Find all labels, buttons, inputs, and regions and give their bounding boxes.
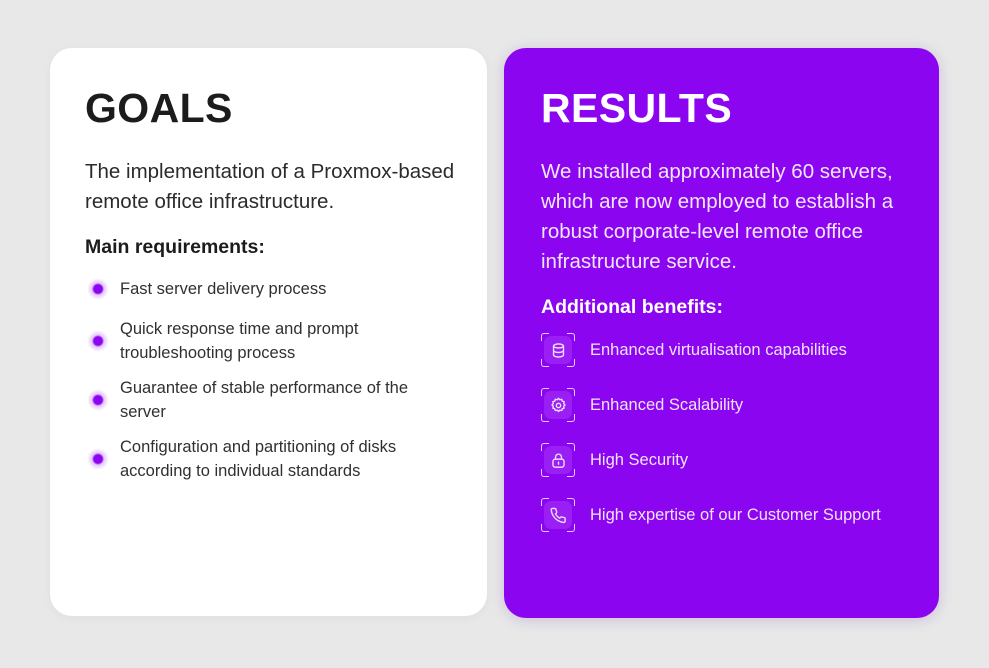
list-item-label: Fast server delivery process	[120, 277, 326, 301]
goals-body-text: The implementation of a Proxmox-based re…	[85, 157, 457, 217]
results-benefits-list: Enhanced virtualisation capabilities Enh…	[541, 333, 913, 532]
list-item-label: Enhanced Scalability	[590, 394, 743, 416]
results-title: RESULTS	[541, 88, 913, 129]
goals-title: GOALS	[85, 88, 457, 129]
results-card-content: RESULTS We installed approximately 60 se…	[541, 88, 913, 553]
bullet-dot-icon	[87, 389, 109, 411]
list-item: Enhanced virtualisation capabilities	[541, 333, 913, 367]
list-item: High expertise of our Customer Support	[541, 498, 913, 532]
goals-requirements-list: Fast server delivery process Quick respo…	[85, 272, 457, 483]
phone-icon	[541, 498, 575, 532]
bullet-dot-icon	[87, 330, 109, 352]
list-item: High Security	[541, 443, 913, 477]
list-item-label: High expertise of our Customer Support	[590, 504, 881, 526]
database-icon	[541, 333, 575, 367]
list-item-label: Configuration and partitioning of disks …	[120, 435, 457, 483]
results-subheading: Additional benefits:	[541, 296, 913, 319]
list-item: Guarantee of stable performance of the s…	[85, 376, 457, 424]
list-item: Configuration and partitioning of disks …	[85, 435, 457, 483]
list-item: Quick response time and prompt troublesh…	[85, 317, 457, 365]
list-item: Fast server delivery process	[85, 272, 457, 306]
list-item-label: Guarantee of stable performance of the s…	[120, 376, 457, 424]
gear-icon	[541, 388, 575, 422]
list-item-label: Enhanced virtualisation capabilities	[590, 339, 847, 361]
results-card: RESULTS We installed approximately 60 se…	[504, 48, 939, 618]
page-root: GOALS The implementation of a Proxmox-ba…	[0, 0, 989, 668]
list-item-label: High Security	[590, 449, 688, 471]
lock-icon	[541, 443, 575, 477]
list-item: Enhanced Scalability	[541, 388, 913, 422]
goals-card: GOALS The implementation of a Proxmox-ba…	[50, 48, 487, 616]
goals-subheading: Main requirements:	[85, 236, 457, 259]
list-item-label: Quick response time and prompt troublesh…	[120, 317, 457, 365]
goals-card-content: GOALS The implementation of a Proxmox-ba…	[85, 88, 457, 494]
results-body-text: We installed approximately 60 servers, w…	[541, 157, 913, 277]
bullet-dot-icon	[87, 278, 109, 300]
bullet-dot-icon	[87, 448, 109, 470]
